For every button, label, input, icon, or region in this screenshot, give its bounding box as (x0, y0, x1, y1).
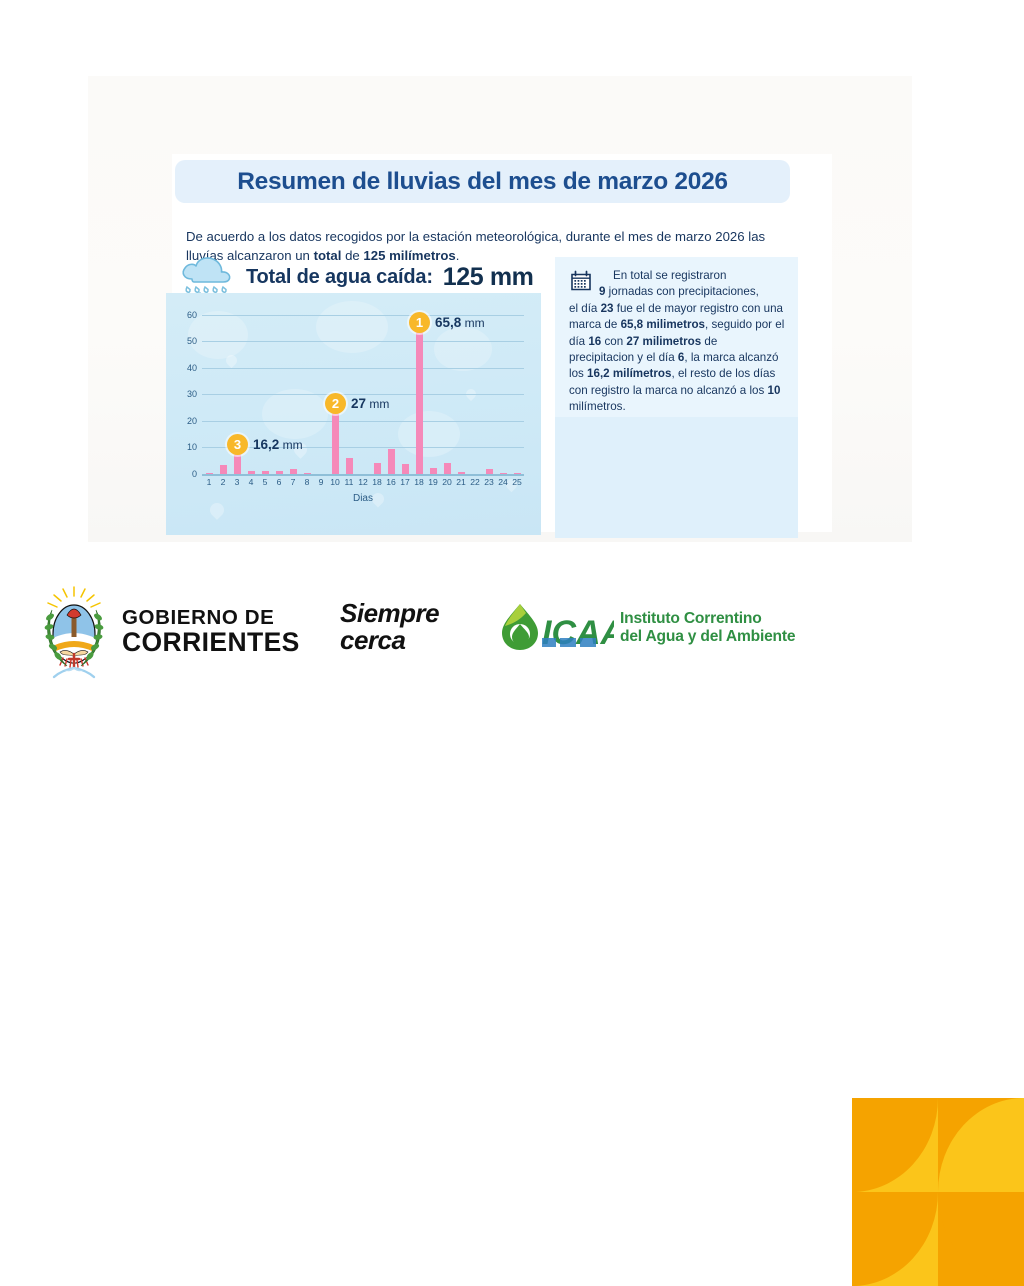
summary-info-body: En total se registraron 9 jornadas con p… (555, 257, 798, 417)
chart-bar (444, 463, 451, 474)
chart-bar (346, 458, 353, 474)
title-banner: Resumen de lluvias del mes de marzo 2026 (175, 160, 790, 203)
chart-y-tick-label: 10 (187, 442, 197, 452)
chart-x-tick-label: 8 (300, 477, 314, 487)
gobierno-line-1: GOBIERNO DE (122, 608, 300, 629)
chart-x-tick-label: 25 (510, 477, 524, 487)
chart-bar (332, 413, 339, 474)
chart-x-tick-label: 7 (286, 477, 300, 487)
chart-x-tick-label: 3 (230, 477, 244, 487)
chart-y-tick-label: 60 (187, 310, 197, 320)
chart-bar-slot (510, 307, 524, 474)
footer-logos: GOBIERNO DE CORRIENTES Siempre cerca ICA… (0, 560, 1024, 726)
chart-x-tick-label: 2 (216, 477, 230, 487)
corrientes-coat-of-arms-icon (40, 582, 108, 682)
info-third-value: 16,2 milímetros (587, 367, 671, 380)
chart-x-tick-label: 18 (412, 477, 426, 487)
info-line-3c: fue el de mayor registro (614, 302, 739, 315)
info-line-6a: milimetros (643, 335, 702, 348)
chart-x-tick-label: 4 (244, 477, 258, 487)
chart-bar (402, 464, 409, 474)
chart-x-tick-label: 9 (314, 477, 328, 487)
chart-x-tick-label: 22 (468, 477, 482, 487)
chart-callout: 165,8 mm (409, 312, 485, 333)
info-line-5c: con (601, 335, 626, 348)
chart-bar-slot (496, 307, 510, 474)
chart-bar (374, 463, 381, 474)
chart-x-tick-label: 21 (454, 477, 468, 487)
chart-x-tick-labels: 1234567891011121816171819202122232425 (202, 477, 524, 487)
chart-x-tick-label: 1 (202, 477, 216, 487)
icaa-wordmark: Instituto Correntino del Agua y del Ambi… (620, 610, 795, 646)
info-line-7c: , (671, 367, 674, 380)
chart-bar-slot (356, 307, 370, 474)
chart-callout: 227 mm (325, 393, 389, 414)
chart-y-tick-label: 50 (187, 336, 197, 346)
icaa-line-2: del Agua y del Ambiente (620, 628, 795, 646)
chart-bar-slot (314, 307, 328, 474)
gobierno-corrientes-logo: GOBIERNO DE CORRIENTES (40, 582, 300, 682)
orange-decorative-motif (852, 1098, 1024, 1286)
icaa-line-1: Instituto Correntino (620, 610, 795, 628)
summary-info-panel: En total se registraron 9 jornadas con p… (555, 257, 798, 538)
chart-x-tick-label: 23 (482, 477, 496, 487)
chart-x-axis-title: Dias (202, 493, 524, 504)
chart-y-tick-label: 20 (187, 416, 197, 426)
chart-bar-slot (384, 307, 398, 474)
chart-x-tick-label: 5 (258, 477, 272, 487)
siempre-cerca-logo: Siempre cerca (340, 600, 439, 654)
chart-bar-slot (202, 307, 216, 474)
info-line-9a: la marca no alcanzó a los (633, 384, 768, 397)
info-max-value: 65,8 milimetros (621, 318, 705, 331)
chart-bar (234, 454, 241, 474)
chart-callout-value: 16,2 mm (253, 437, 303, 452)
info-line-1: En total se registraron (569, 268, 785, 284)
info-line-4c: , (705, 318, 708, 331)
chart-bar-slot (342, 307, 356, 474)
info-line-3a: el día (569, 302, 601, 315)
icaa-logo: ICAA ICAA Instituto Correntino del Agua … (498, 600, 795, 656)
chart-callout-rank-badge: 3 (227, 434, 248, 455)
chart-bar-slot (370, 307, 384, 474)
chart-x-tick-label: 20 (440, 477, 454, 487)
chart-bar-slot (328, 307, 342, 474)
chart-callout-rank-badge: 1 (409, 312, 430, 333)
page-title: Resumen de lluvias del mes de marzo 2026 (237, 168, 727, 196)
info-second-value: 27 (626, 335, 639, 348)
total-water-label: Total de agua caída: (246, 266, 433, 289)
chart-x-axis-line (202, 474, 524, 476)
summary-info-text: En total se registraron 9 jornadas con p… (569, 268, 785, 416)
gobierno-wordmark: GOBIERNO DE CORRIENTES (122, 608, 300, 656)
rainfall-chart-panel: 0102030405060 Precipitacion (mm) 1234567… (166, 293, 541, 535)
total-water-value: 125 mm (443, 263, 534, 292)
chart-y-tick-label: 0 (192, 469, 197, 479)
info-second-day: 16 (588, 335, 601, 348)
gobierno-line-2: CORRIENTES (122, 629, 300, 656)
chart-callout-rank-badge: 2 (325, 393, 346, 414)
chart-callout-value: 27 mm (351, 396, 389, 411)
chart-x-tick-label: 16 (384, 477, 398, 487)
siempre-line-1: Siempre (340, 600, 439, 627)
chart-callout: 316,2 mm (227, 434, 303, 455)
chart-x-tick-label: 11 (342, 477, 356, 487)
info-line-9c: milímetros. (569, 400, 626, 413)
chart-x-tick-label: 12 (356, 477, 370, 487)
siempre-line-2: cerca (340, 627, 439, 654)
chart-x-tick-label: 19 (426, 477, 440, 487)
info-line-6d: , (684, 351, 687, 364)
info-threshold: 10 (768, 384, 781, 397)
chart-x-tick-label: 18 (370, 477, 384, 487)
chart-x-tick-label: 10 (328, 477, 342, 487)
chart-x-tick-label: 6 (272, 477, 286, 487)
info-max-day: 23 (601, 302, 614, 315)
chart-y-tick-label: 40 (187, 363, 197, 373)
chart-callout-value: 65,8 mm (435, 315, 485, 330)
chart-bar (416, 332, 423, 474)
icaa-droplet-icon: ICAA ICAA (498, 600, 614, 656)
chart-bar (220, 465, 227, 474)
chart-x-tick-label: 24 (496, 477, 510, 487)
chart-x-tick-label: 17 (398, 477, 412, 487)
info-line-2: jornadas con precipitaciones, (605, 285, 758, 298)
chart-y-tick-label: 30 (187, 389, 197, 399)
chart-bar (388, 449, 395, 474)
